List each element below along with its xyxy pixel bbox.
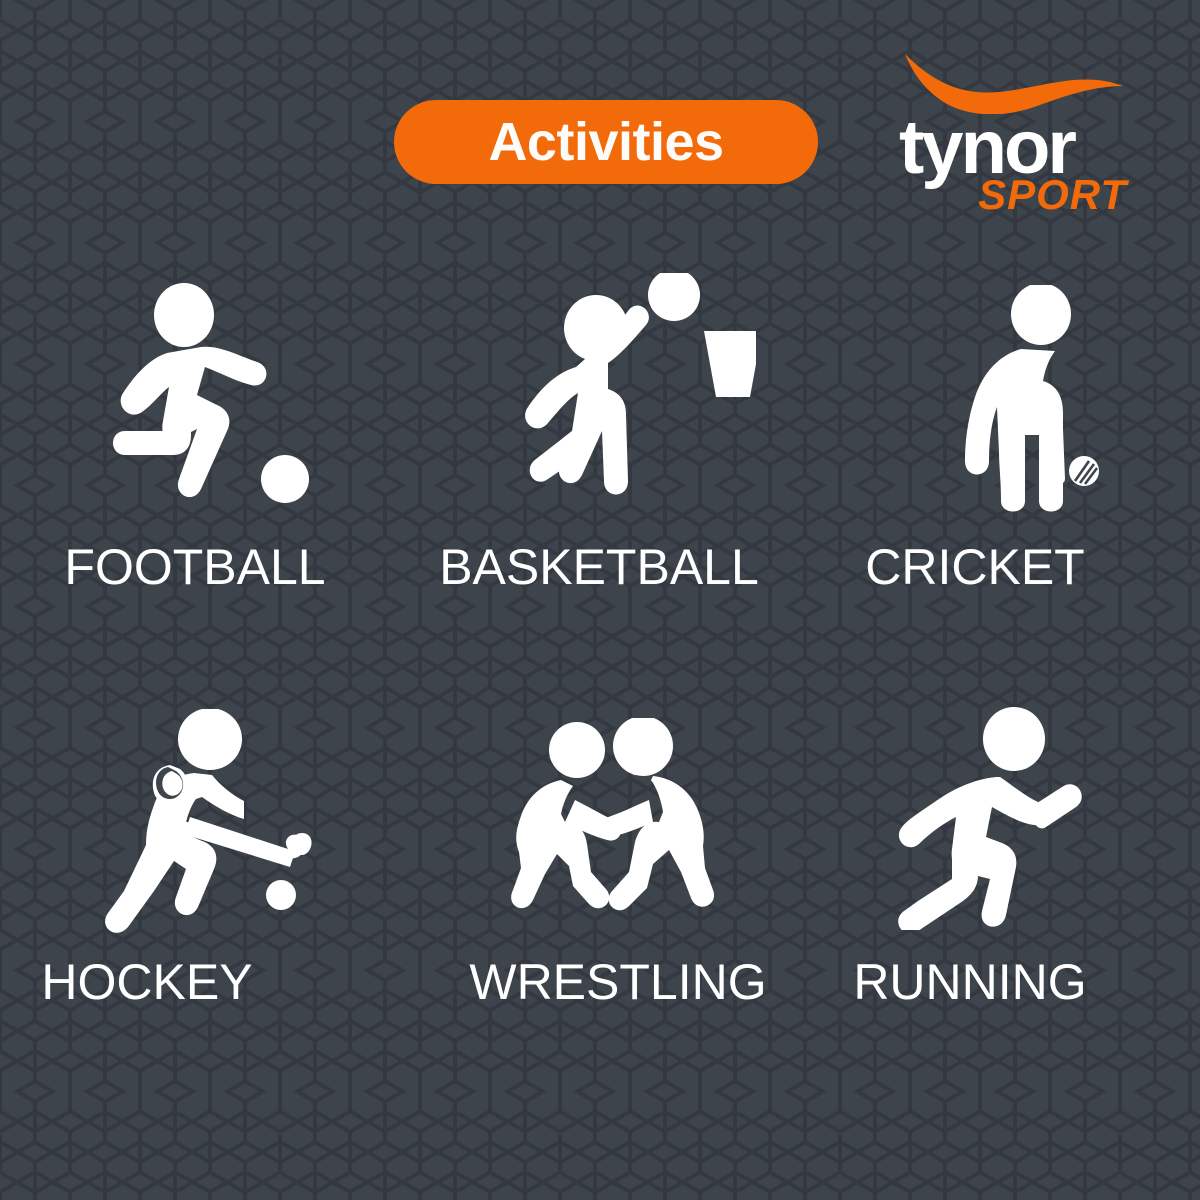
activity-card-hockey[interactable]: HOCKEY [0, 665, 400, 1080]
activity-card-running[interactable]: RUNNING [800, 665, 1200, 1080]
tynor-sport-logo: tynor SPORT [895, 52, 1135, 222]
activity-card-football[interactable]: FOOTBALL [0, 250, 400, 665]
poster-header: Activities tynor SPORT [0, 0, 1200, 230]
activity-card-basketball[interactable]: BASKETBALL [400, 250, 800, 665]
activity-card-wrestling[interactable]: WRESTLING [400, 665, 800, 1080]
activity-label-hockey: HOCKEY [41, 957, 252, 1007]
football-player-icon [105, 258, 320, 538]
activity-label-running: RUNNING [853, 957, 1086, 1007]
running-person-icon [894, 677, 1094, 957]
cricket-batsman-icon [947, 260, 1107, 540]
activities-badge-label: Activities [488, 115, 723, 169]
hockey-player-icon [98, 681, 323, 961]
activities-grid: FOOTBALL BASKETBALL [0, 250, 1200, 1080]
activity-label-basketball: BASKETBALL [439, 542, 759, 592]
activity-label-wrestling: WRESTLING [469, 957, 766, 1007]
logo-sub-wordmark: SPORT [895, 174, 1127, 216]
activities-badge: Activities [394, 100, 818, 184]
wrestling-pair-icon [503, 685, 733, 965]
activities-poster: Activities tynor SPORT [0, 0, 1200, 1200]
activity-label-football: FOOTBALL [64, 542, 325, 592]
activity-label-cricket: CRICKET [865, 542, 1084, 592]
basketball-player-icon [516, 250, 756, 530]
activity-card-cricket[interactable]: CRICKET [800, 250, 1200, 665]
